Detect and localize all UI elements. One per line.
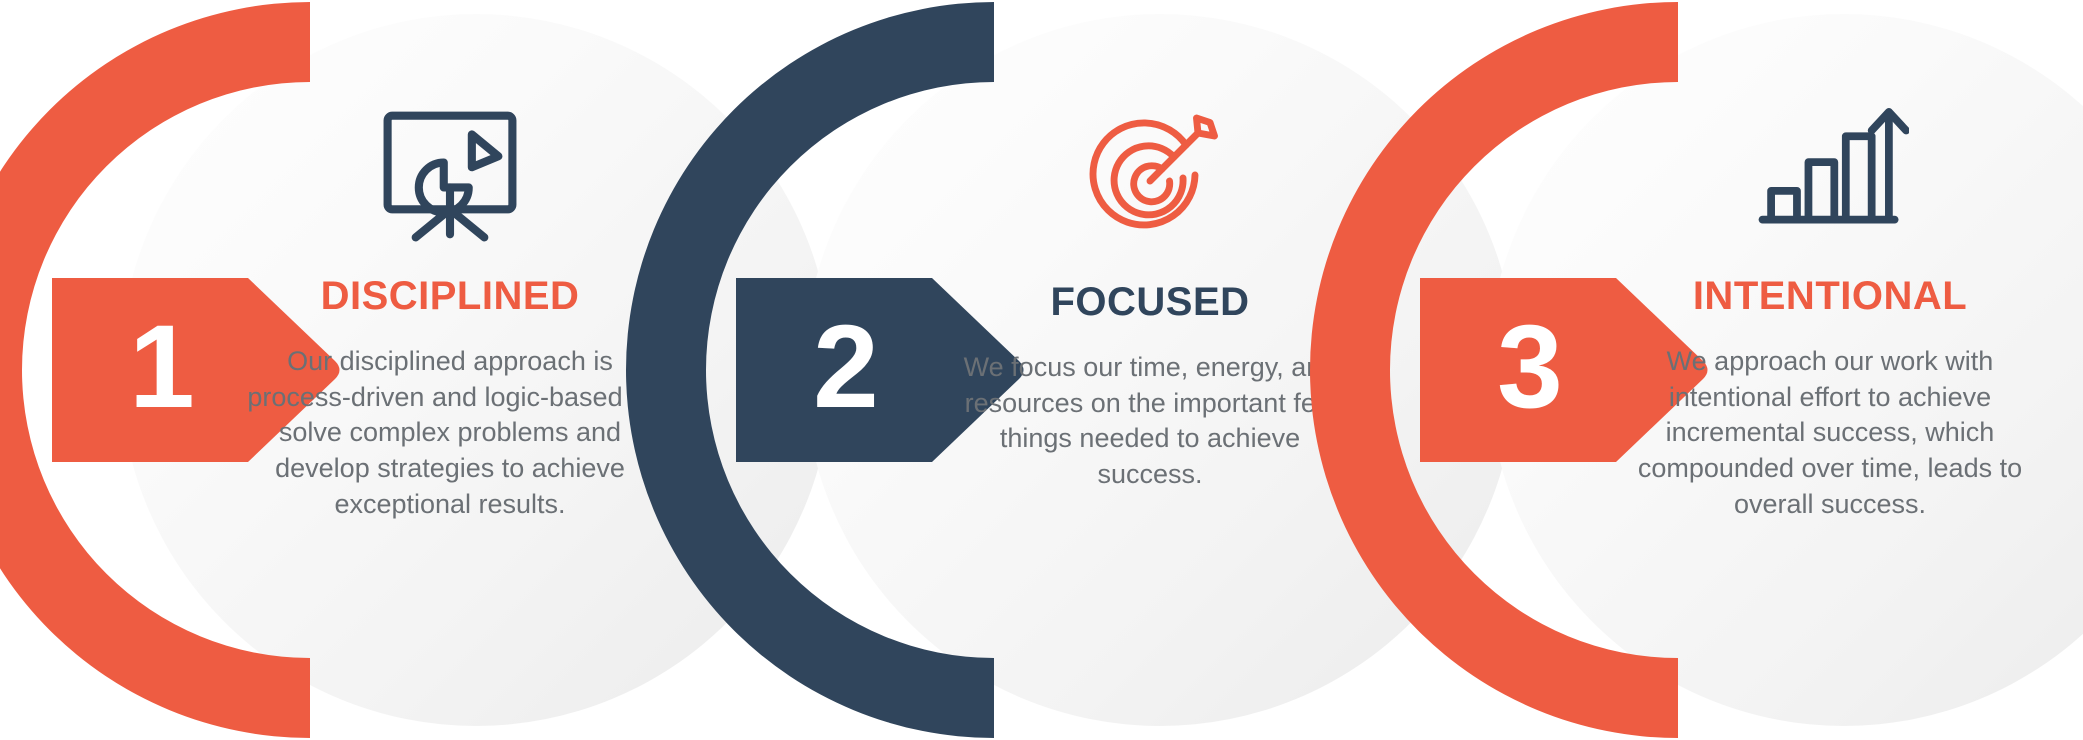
step-3-number: 3: [1420, 278, 1638, 462]
step-panel-3: 3 INTENTIONAL We approach our work with …: [1368, 0, 2068, 740]
step-panel-1: 1 DISCIPLINED Our disciplined approach i…: [0, 0, 700, 740]
target-arrow-icon: [938, 96, 1362, 266]
step-2-content: FOCUSED We focus our time, energy, and r…: [938, 96, 1362, 493]
step-3-body: We approach our work with intentional ef…: [1618, 344, 2042, 522]
step-3-content: INTENTIONAL We approach our work with in…: [1618, 80, 2042, 522]
step-2-body: We focus our time, energy, and resources…: [938, 350, 1362, 493]
three-step-infographic: 1 DISCIPLINED Our disciplined approach i…: [0, 0, 2083, 740]
step-1-body: Our disciplined approach is process-driv…: [238, 344, 662, 522]
step-2-heading: FOCUSED: [938, 280, 1362, 324]
step-2-number: 2: [736, 278, 954, 462]
step-panel-2: 2 FOCUSED We focus our time, energy, and…: [684, 0, 1384, 740]
step-3-heading: INTENTIONAL: [1618, 274, 2042, 318]
step-1-heading: DISCIPLINED: [238, 274, 662, 318]
presentation-chart-icon: [238, 90, 662, 260]
growth-bar-chart-icon: [1618, 80, 2042, 250]
step-1-content: DISCIPLINED Our disciplined approach is …: [238, 90, 662, 522]
